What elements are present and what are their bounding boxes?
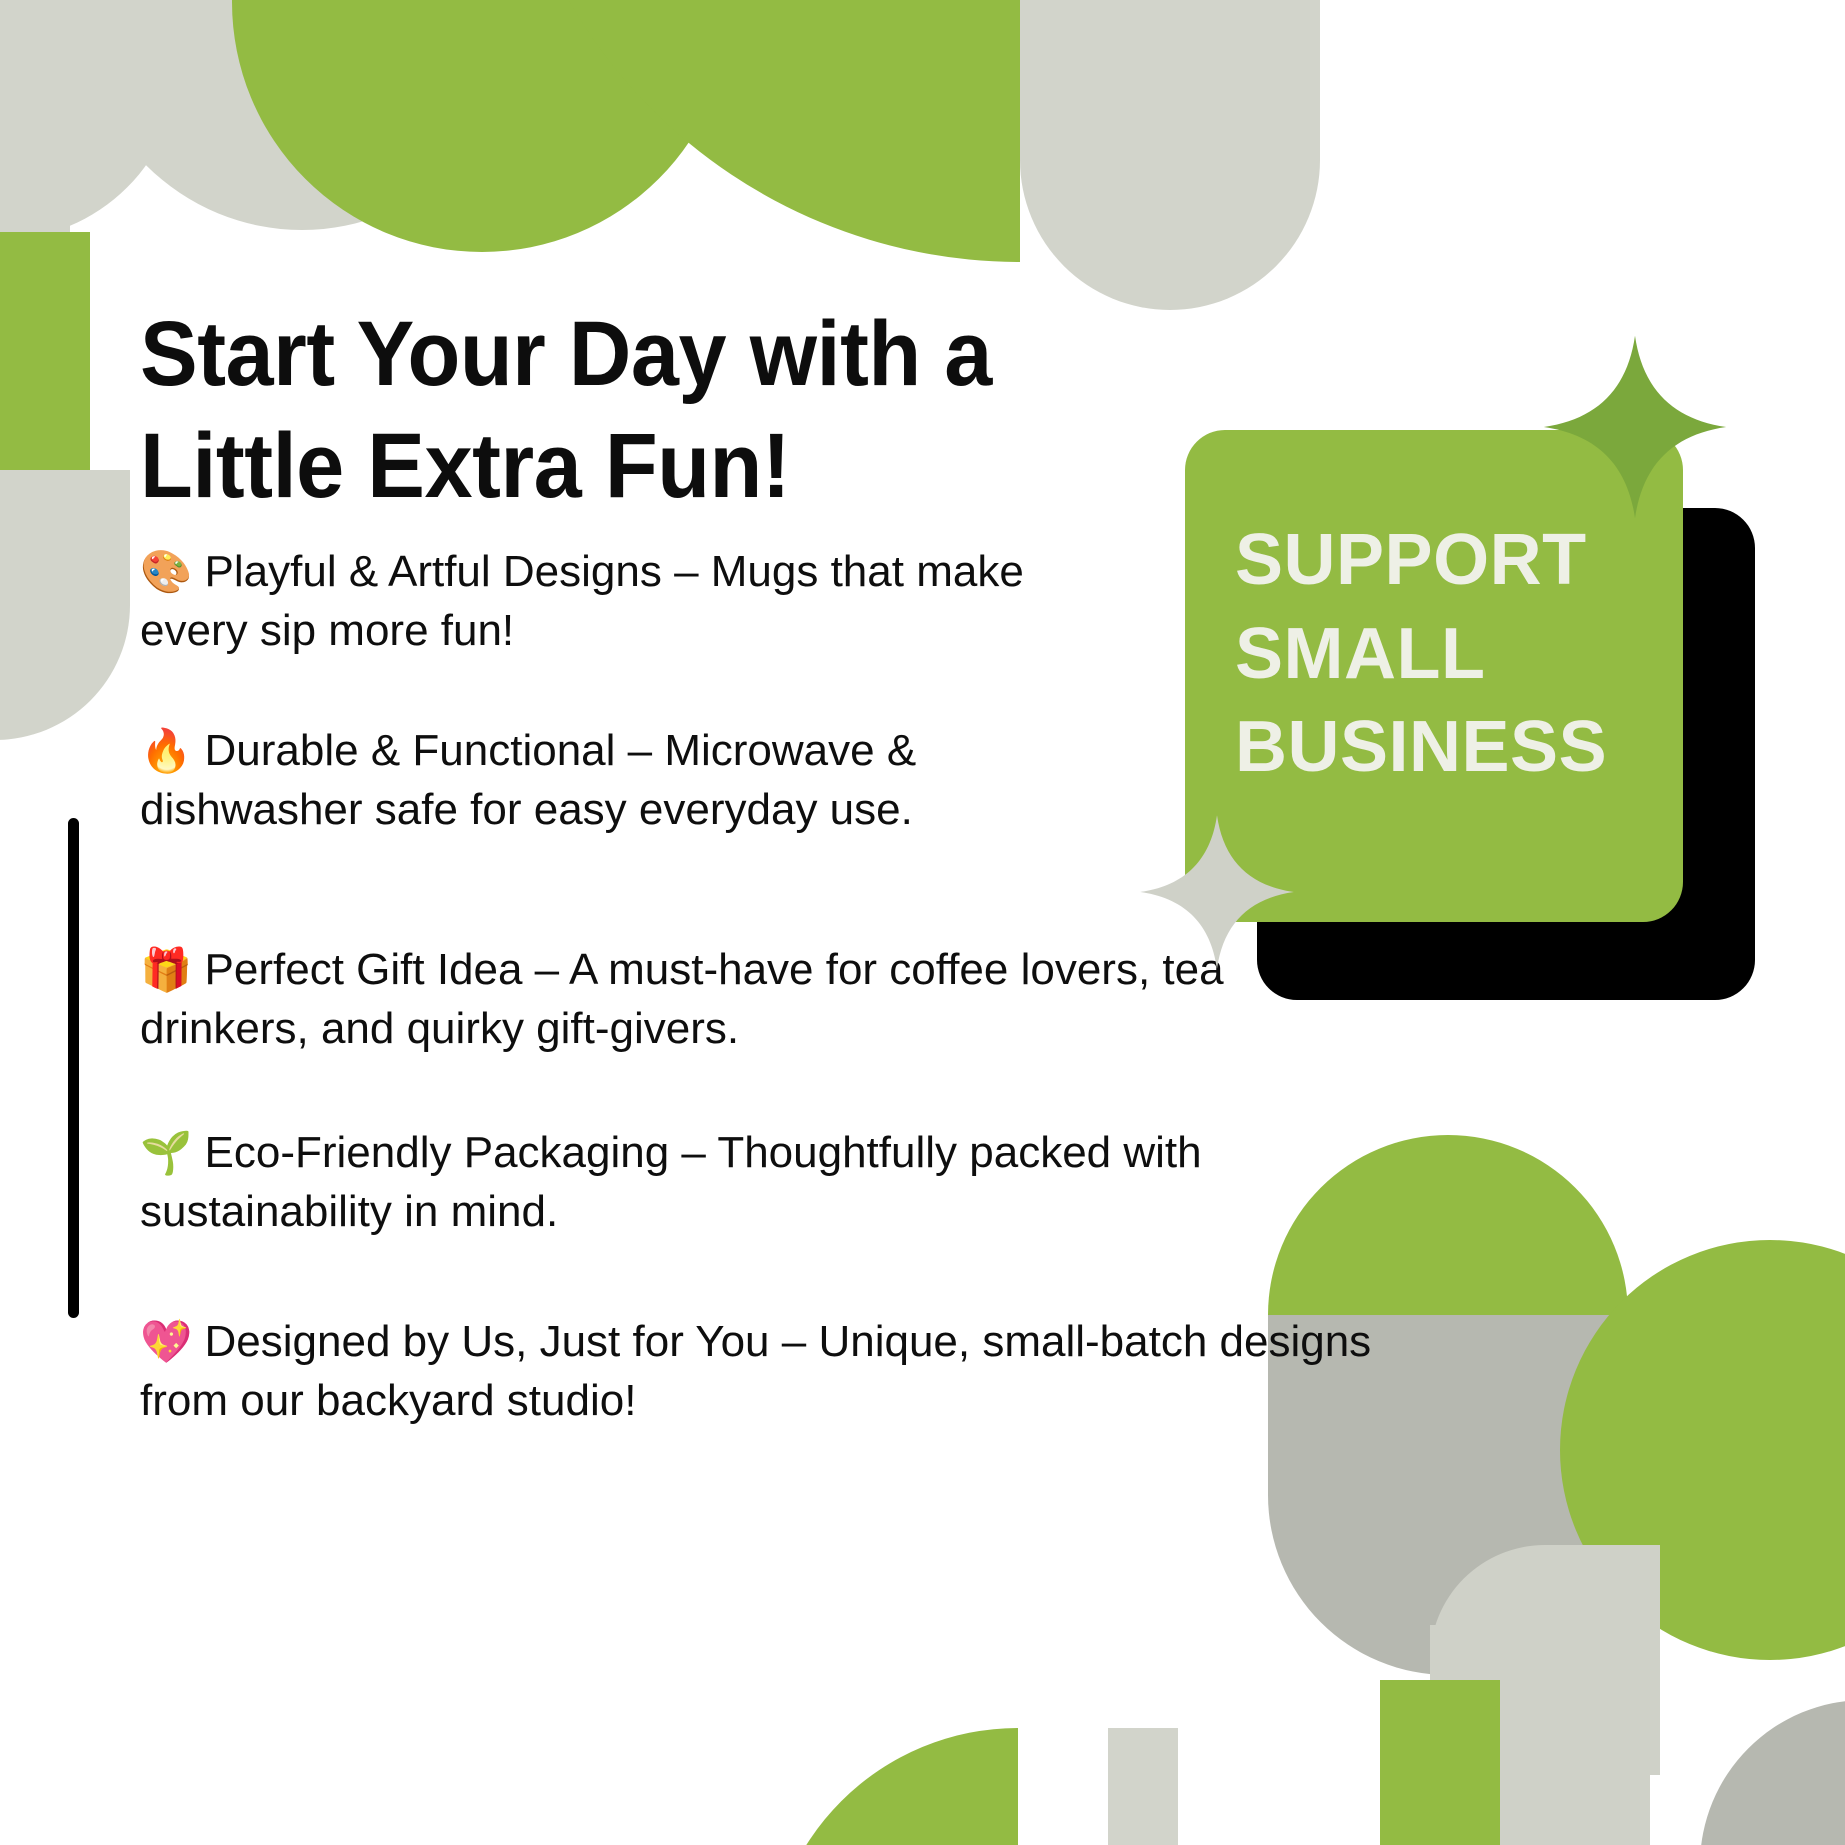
list-item-text: Durable & Functional – Microwave & dishw…	[140, 726, 916, 834]
list-item-text: Perfect Gift Idea – A must-have for coff…	[140, 945, 1224, 1053]
decor-green-circle-bottom-right	[1560, 1240, 1845, 1660]
sparkle-star-icon-secondary	[1137, 812, 1297, 972]
decor-green-rect-left	[0, 232, 90, 522]
list-item: 🌱 Eco-Friendly Packaging – Thoughtfully …	[140, 1124, 1450, 1241]
list-item: 💖 Designed by Us, Just for You – Unique,…	[140, 1313, 1440, 1430]
decor-gray-shape-top-left	[0, 0, 180, 240]
fire-emoji: 🔥	[140, 727, 192, 774]
list-item-text: Eco-Friendly Packaging – Thoughtfully pa…	[140, 1128, 1202, 1236]
headline-line-1: Start Your Day with a	[140, 298, 1136, 410]
sparkling-heart-emoji: 💖	[140, 1318, 192, 1365]
decor-gray-rect-bottom-right	[1430, 1625, 1650, 1845]
list-item-text: Designed by Us, Just for You – Unique, s…	[140, 1317, 1371, 1425]
decor-gray-circle-corner	[1700, 1700, 1845, 1845]
decor-green-square-bottom-right	[1380, 1680, 1500, 1845]
headline-line-2: Little Extra Fun!	[140, 410, 1136, 522]
decor-gray-halfcircle-top	[82, 0, 522, 230]
wrapped-gift-emoji: 🎁	[140, 946, 192, 993]
sparkle-star-icon	[1540, 332, 1730, 522]
badge-line-3: BUSINESS	[1235, 701, 1665, 795]
artist-palette-emoji: 🎨	[140, 548, 192, 595]
decor-gray-arc-bottom-right	[1430, 1545, 1660, 1775]
list-item-text: Playful & Artful Designs – Mugs that mak…	[140, 547, 1024, 655]
decor-gray-halfcircle-top-right	[1020, 0, 1320, 310]
decor-green-quartercircle-top	[500, 0, 1020, 262]
poster-canvas: Start Your Day with a Little Extra Fun! …	[0, 0, 1845, 1845]
seedling-emoji: 🌱	[140, 1129, 192, 1176]
page-title: Start Your Day with a Little Extra Fun!	[140, 298, 1136, 522]
decor-green-circle-top	[232, 0, 732, 252]
badge-text: SUPPORT SMALL BUSINESS	[1235, 514, 1665, 795]
list-item: 🔥 Durable & Functional – Microwave & dis…	[140, 722, 1010, 839]
support-small-business-badge: SUPPORT SMALL BUSINESS	[1185, 430, 1755, 1010]
vertical-accent-bar	[68, 818, 79, 1318]
badge-line-1: SUPPORT	[1235, 514, 1665, 608]
decor-green-quartercircle-bottom	[768, 1728, 1018, 1845]
list-item: 🎨 Playful & Artful Designs – Mugs that m…	[140, 543, 1050, 660]
decor-gray-quartercircle-left	[0, 470, 130, 740]
badge-line-2: SMALL	[1235, 608, 1665, 702]
decor-gray-square-top-left	[0, 0, 70, 240]
decor-gray-sliver-bottom	[1108, 1728, 1178, 1845]
